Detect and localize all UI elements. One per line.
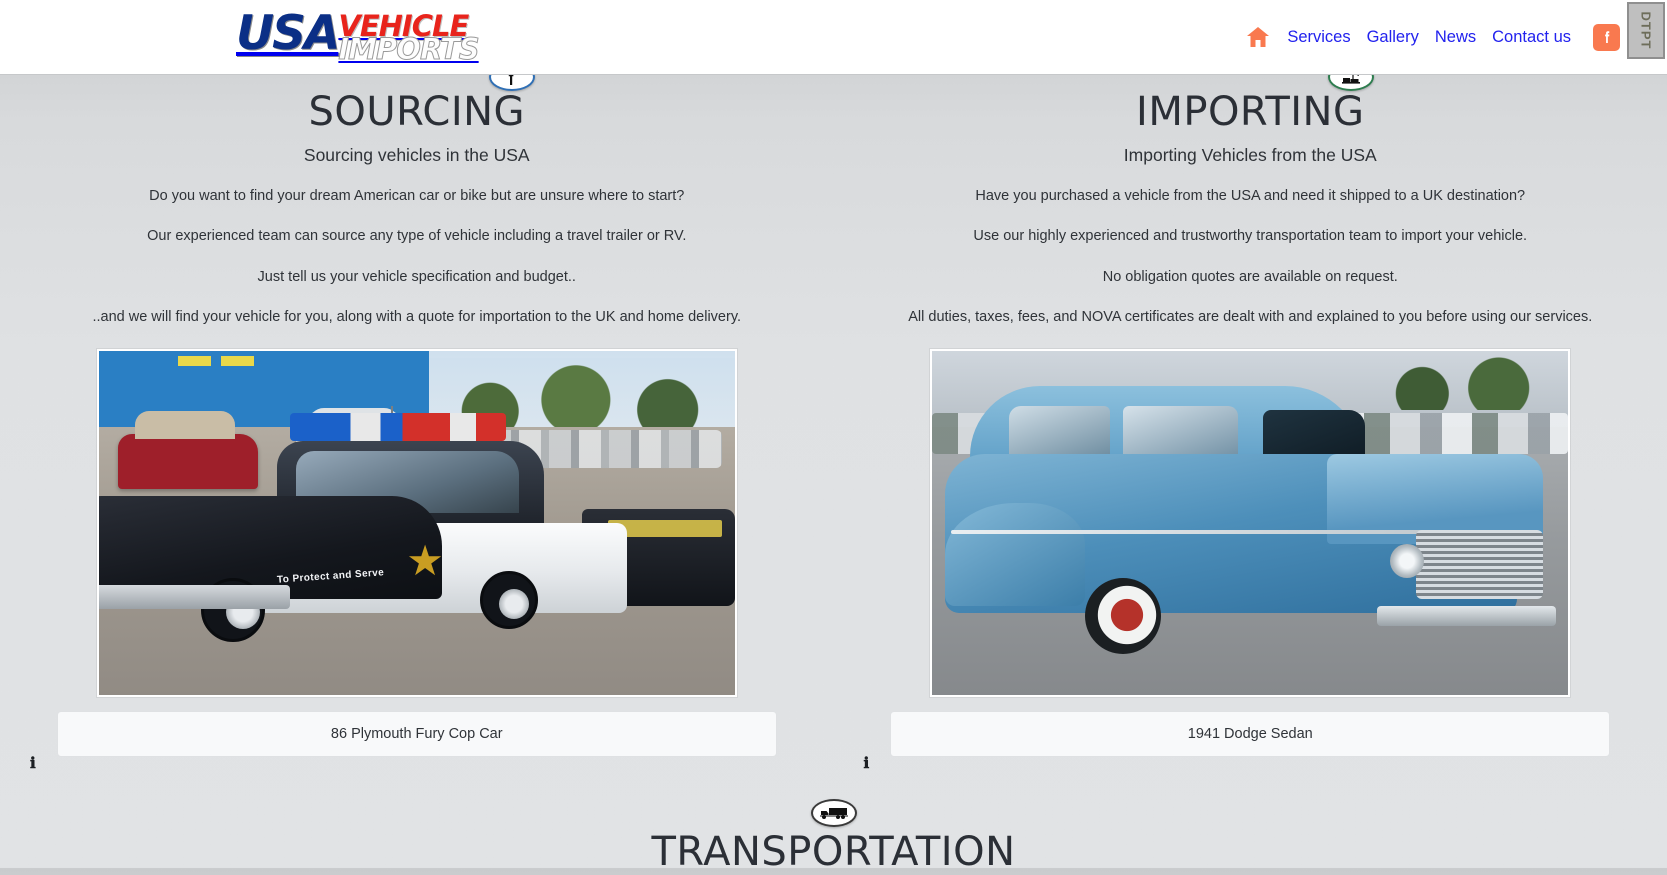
photo-trees [1365,355,1556,410]
photo-police-hood [97,496,442,599]
nav-item-news[interactable]: News [1435,28,1476,47]
sourcing-paragraph-3: Just tell us your vehicle specification … [0,267,834,287]
importing-paragraph-4: All duties, taxes, fees, and NOVA certif… [834,307,1667,327]
truck-icon-badge [811,799,857,827]
home-icon [1245,25,1271,49]
services-columns: SOURCING Sourcing vehicles in the USA Do… [0,75,1667,757]
viewport-scroll-label: DTPT [1639,12,1654,50]
photo-red-mustang [118,434,258,489]
facebook-icon [1599,29,1615,45]
logo-usa-text: USA [236,10,338,57]
photo-front-bumper [97,585,290,609]
sourcing-heading-group: SOURCING [0,89,834,135]
photo-rear-fender [945,503,1085,606]
sourcing-caption-row: 86 Plymouth Fury Cop Car ℹ [0,711,834,757]
sheriff-star-icon: ★ [404,540,446,582]
photo-headlight [1390,544,1424,578]
logo-imports-text: IMPORTS [338,35,478,64]
site-logo[interactable]: USA VEHICLE IMPORTS [236,10,479,64]
importing-title: IMPORTING [834,89,1667,135]
sourcing-subtitle: Sourcing vehicles in the USA [0,145,834,166]
transportation-section: TRANSPORTATION [0,799,1667,875]
importing-heading-group: IMPORTING [834,89,1667,135]
sourcing-photo-wrap: ★ To Protect and Serve [0,349,834,697]
importing-photo[interactable] [930,349,1570,697]
importing-column: IMPORTING Importing Vehicles from the US… [834,89,1667,757]
importing-paragraph-1: Have you purchased a vehicle from the US… [834,186,1667,206]
home-link[interactable] [1245,25,1271,49]
photo-building-door-left [178,356,211,366]
importing-caption[interactable]: 1941 Dodge Sedan [890,711,1610,757]
transportation-title: TRANSPORTATION [0,829,1667,875]
photo-police-lightbar [290,413,506,441]
photo-front-bumper [1377,606,1555,627]
sourcing-photo[interactable]: ★ To Protect and Serve [97,349,737,697]
viewport-scrollbar-overlay[interactable]: DTPT [1627,2,1665,59]
photo-building-door-right [221,356,254,366]
nav-item-services[interactable]: Services [1287,28,1350,47]
photo-whitewall-tyre [1094,582,1160,648]
sourcing-paragraph-4: ..and we will find your vehicle for you,… [0,307,834,327]
sourcing-column: SOURCING Sourcing vehicles in the USA Do… [0,89,834,757]
site-header: USA VEHICLE IMPORTS Services Gallery New… [0,0,1667,75]
importing-paragraph-3: No obligation quotes are available on re… [834,267,1667,287]
info-icon[interactable]: ℹ [864,756,870,771]
importing-paragraph-2: Use our highly experienced and trustwort… [834,226,1667,246]
main-navigation: Services Gallery News Contact us [1245,24,1667,51]
info-icon[interactable]: ℹ [30,756,36,771]
facebook-link[interactable] [1593,24,1620,51]
photo-rear-hubcap [499,589,529,619]
importing-caption-row: 1941 Dodge Sedan ℹ [834,711,1667,757]
sourcing-title: SOURCING [0,89,834,135]
importing-subtitle: Importing Vehicles from the USA [834,145,1667,166]
nav-item-contact-us[interactable]: Contact us [1492,28,1571,47]
sourcing-paragraph-1: Do you want to find your dream American … [0,186,834,206]
nav-item-gallery[interactable]: Gallery [1367,28,1419,47]
truck-icon [819,806,849,821]
photo-dodge-grille [1416,530,1543,599]
page-content: SOURCING Sourcing vehicles in the USA Do… [0,75,1667,875]
sourcing-caption[interactable]: 86 Plymouth Fury Cop Car [57,711,777,757]
sourcing-paragraph-2: Our experienced team can source any type… [0,226,834,246]
importing-photo-wrap [834,349,1667,697]
